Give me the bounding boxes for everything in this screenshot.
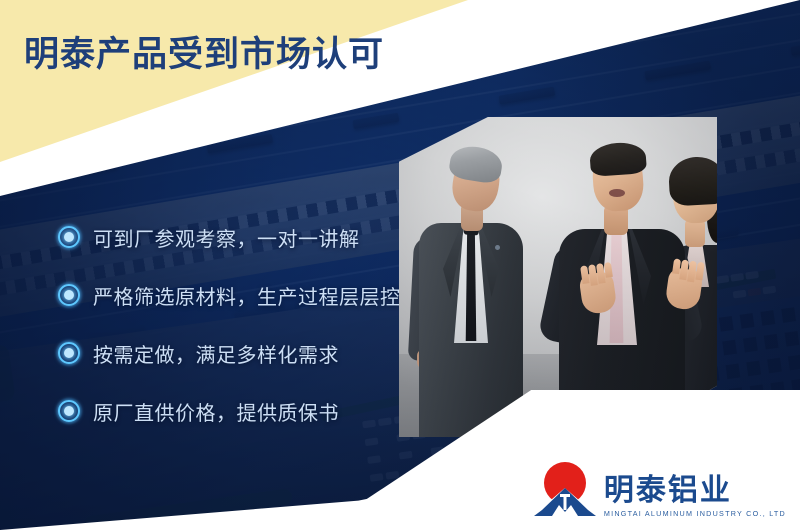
target-ring-icon (58, 226, 80, 248)
feature-item: 原厂直供价格，提供质保书 (58, 382, 421, 440)
logo-name-cn: 明泰铝业 (604, 475, 732, 507)
mingtai-sun-mountain-icon (534, 462, 596, 516)
company-logo[interactable]: 明泰铝业 MINGTAI ALUMINUM INDUSTRY CO., LTD (534, 462, 786, 518)
page-title: 明泰产品受到市场认可 (24, 26, 384, 77)
logo-wordmark: 明泰铝业 MINGTAI ALUMINUM INDUSTRY CO., LTD (604, 475, 786, 519)
logo-name-en: MINGTAI ALUMINUM INDUSTRY CO., LTD (604, 509, 786, 518)
feature-item: 严格筛选原材料，生产过程层层控制 (58, 266, 421, 324)
feature-item: 按需定做，满足多样化需求 (58, 324, 421, 382)
photo-shading (399, 117, 717, 437)
feature-item-label: 原厂直供价格，提供质保书 (93, 397, 339, 426)
feature-list: 可到厂参观考察，一对一讲解严格筛选原材料，生产过程层层控制按需定做，满足多样化需… (58, 208, 421, 440)
feature-item: 可到厂参观考察，一对一讲解 (58, 208, 421, 266)
feature-item-label: 可到厂参观考察，一对一讲解 (93, 223, 360, 252)
target-ring-icon (58, 284, 80, 306)
target-ring-icon (58, 342, 80, 364)
business-people-photo (399, 117, 717, 437)
promo-banner: 明泰产品受到市场认可 可到厂参观考察，一对一讲解严格筛选原材料，生产过程层层控制… (0, 0, 800, 530)
logo-blue-mountain (534, 488, 596, 516)
feature-item-label: 严格筛选原材料，生产过程层层控制 (93, 281, 421, 310)
feature-item-label: 按需定做，满足多样化需求 (93, 339, 339, 368)
target-ring-icon (58, 400, 80, 422)
